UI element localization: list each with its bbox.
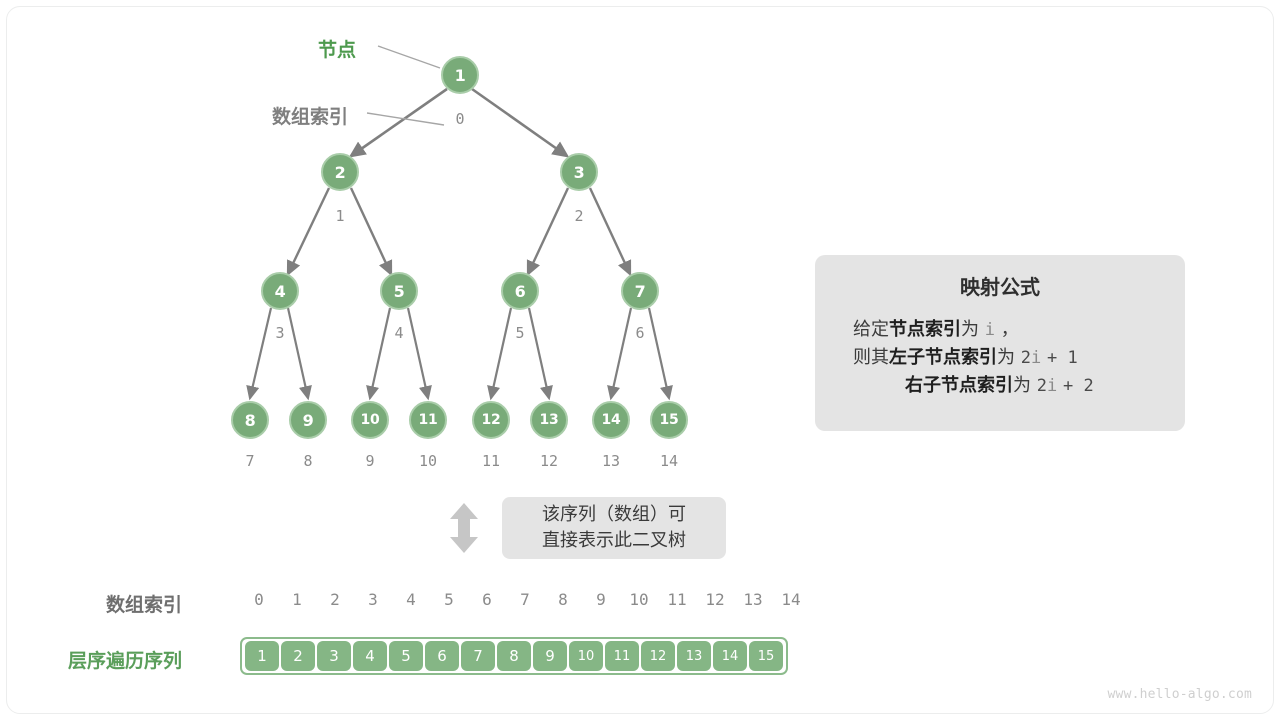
edge-6-12 [491,308,511,398]
array-index-cell: 0 [240,590,278,609]
tree-node[interactable]: 3 [560,153,598,191]
tree-node[interactable]: 7 [621,272,659,310]
tree-node[interactable]: 12 [472,401,510,439]
annotation-node-label: 节点 [318,35,356,62]
edge-4-9 [288,308,308,398]
edge-5-10 [370,308,390,398]
array-cell[interactable]: 7 [461,641,495,671]
array-index-cell: 6 [468,590,506,609]
formula-coefficient: 2 [1037,376,1047,396]
formula-expression-tail: + 1 [1047,348,1078,368]
array-cell[interactable]: 15 [749,641,783,671]
tree-node[interactable]: 5 [380,272,418,310]
array-cell[interactable]: 13 [677,641,711,671]
tree-node[interactable]: 2 [321,153,359,191]
edge-2-5 [351,188,391,274]
array-cell[interactable]: 2 [281,641,315,671]
formula-coefficient: 2 [1021,348,1031,368]
node-index-label: 14 [650,452,688,470]
array-cell[interactable]: 9 [533,641,567,671]
array-index-cell: 9 [582,590,620,609]
formula-text-bold: 节点索引 [889,319,961,340]
node-index-label: 12 [530,452,568,470]
formula-text: 为 [1013,375,1031,396]
node-index-label: 7 [231,452,269,470]
levelorder-array: 1 2 3 4 5 6 7 8 9 10 11 12 13 14 15 [240,637,788,675]
array-index-cell: 4 [392,590,430,609]
diagram-canvas: 节点 数组索引 1 0 2 1 3 2 4 3 5 4 6 5 7 6 8 7 … [0,0,1280,720]
mapping-formula-panel: 映射公式 给定节点索引为 i ， 则其左子节点索引为 2i + 1 右子节点索引… [815,255,1185,431]
edge-5-11 [408,308,428,398]
tree-node[interactable]: 9 [289,401,327,439]
tree-node[interactable]: 11 [409,401,447,439]
formula-line-1: 给定节点索引为 i ， [833,316,1167,344]
levelorder-sequence-label: 层序遍历序列 [68,646,182,673]
edge-1-3 [472,89,567,156]
edge-7-15 [649,308,669,398]
node-index-label: 0 [441,110,479,128]
tree-node[interactable]: 15 [650,401,688,439]
formula-line-2: 则其左子节点索引为 2i + 1 [833,344,1167,372]
array-index-cell: 5 [430,590,468,609]
array-cell[interactable]: 10 [569,641,603,671]
leader-line-array-index [367,113,444,125]
node-index-label: 6 [621,324,659,342]
array-cell[interactable]: 12 [641,641,675,671]
array-cell[interactable]: 3 [317,641,351,671]
node-index-label: 8 [289,452,327,470]
formula-text: 给定 [853,319,889,340]
edge-2-4 [288,188,329,274]
array-index-cell: 8 [544,590,582,609]
tree-node[interactable]: 6 [501,272,539,310]
edge-4-8 [250,308,271,398]
formula-text: 则其 [853,347,889,368]
array-index-cell: 12 [696,590,734,609]
array-cell[interactable]: 5 [389,641,423,671]
formula-text: 为 [961,319,979,340]
node-index-label: 11 [472,452,510,470]
bottom-array-index-label: 数组索引 [106,590,182,617]
tree-node[interactable]: 13 [530,401,568,439]
tree-node[interactable]: 8 [231,401,269,439]
tree-node[interactable]: 10 [351,401,389,439]
array-cell[interactable]: 14 [713,641,747,671]
array-index-cell: 11 [658,590,696,609]
tree-node[interactable]: 1 [441,56,479,94]
node-index-label: 4 [380,324,418,342]
formula-line-3: 右子节点索引为 2i + 2 [833,372,1167,400]
array-index-cell: 2 [316,590,354,609]
annotation-array-index-label: 数组索引 [272,102,348,129]
tree-node[interactable]: 4 [261,272,299,310]
edge-3-6 [528,188,568,274]
tree-node[interactable]: 14 [592,401,630,439]
formula-variable-i: i [985,320,995,340]
node-index-label: 9 [351,452,389,470]
formula-expression-tail: + 2 [1063,376,1094,396]
formula-text: 为 [997,347,1015,368]
sequence-callout: 该序列（数组）可 直接表示此二叉树 [502,497,726,559]
array-cell[interactable]: 8 [497,641,531,671]
edge-1-2 [351,89,447,156]
formula-title: 映射公式 [833,271,1167,300]
array-index-cell: 14 [772,590,810,609]
formula-text: ， [1001,319,1019,340]
node-index-label: 1 [321,207,359,225]
edge-7-14 [611,308,631,398]
node-index-label: 10 [409,452,447,470]
edge-3-7 [590,188,630,274]
node-index-label: 13 [592,452,630,470]
array-cell[interactable]: 6 [425,641,459,671]
node-index-label: 2 [560,207,598,225]
array-index-cell: 13 [734,590,772,609]
formula-variable-i: i [1031,348,1041,368]
double-arrow-icon [448,502,480,554]
formula-text-bold: 右子节点索引 [905,375,1013,396]
array-index-cell: 3 [354,590,392,609]
edge-6-13 [529,308,549,398]
array-cell[interactable]: 1 [245,641,279,671]
node-index-label: 3 [261,324,299,342]
array-index-cell: 7 [506,590,544,609]
callout-line-1: 该序列（数组）可 [542,502,686,528]
watermark: www.hello-algo.com [1108,687,1252,702]
array-index-row: 0 1 2 3 4 5 6 7 8 9 10 11 12 13 14 [240,590,810,609]
array-cell[interactable]: 4 [353,641,387,671]
leader-line-node [378,46,440,68]
array-index-cell: 1 [278,590,316,609]
formula-text-bold: 左子节点索引 [889,347,997,368]
array-index-cell: 10 [620,590,658,609]
array-cell[interactable]: 11 [605,641,639,671]
formula-variable-i: i [1047,376,1057,396]
callout-line-2: 直接表示此二叉树 [542,528,686,554]
node-index-label: 5 [501,324,539,342]
